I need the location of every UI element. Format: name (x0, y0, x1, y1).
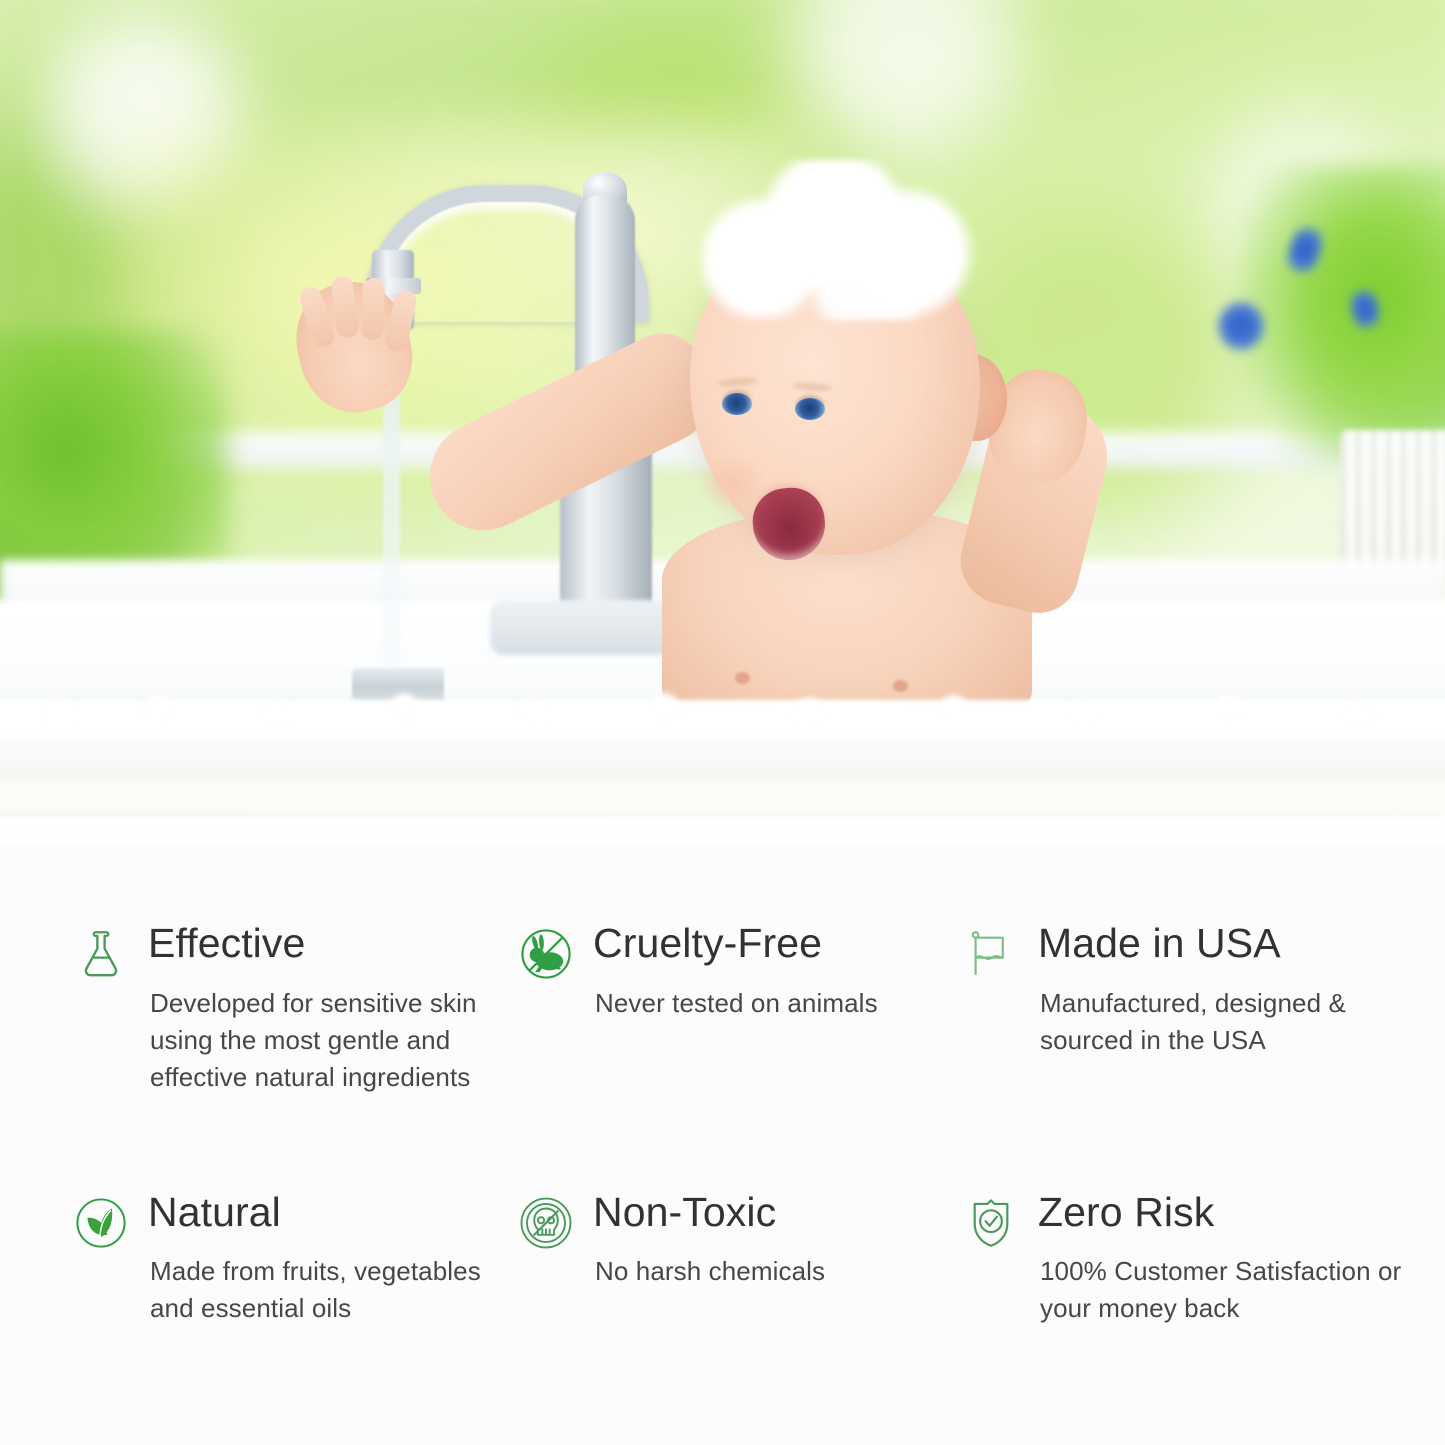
feature-title: Natural (148, 1192, 517, 1234)
flask-icon (72, 925, 130, 983)
baby-eye (722, 393, 752, 415)
feature-text: Zero Risk 100% Customer Satisfaction or … (1038, 1192, 1407, 1328)
feature-zero-risk: Zero Risk 100% Customer Satisfaction or … (962, 1192, 1407, 1328)
feature-description: Developed for sensitive skin using the m… (150, 985, 517, 1096)
feature-made-in-usa: Made in USA Manufactured, designed & sou… (962, 923, 1407, 1059)
feature-grid: Effective Developed for sensitive skin u… (0, 845, 1445, 1445)
feature-text: Non-Toxic No harsh chemicals (593, 1192, 962, 1291)
feature-description: Made from fruits, vegetables and essenti… (150, 1253, 517, 1327)
baby-cheek (700, 455, 766, 511)
feature-description: No harsh chemicals (595, 1253, 962, 1290)
leaves-icon (72, 1194, 130, 1252)
grass-plant-right (1240, 165, 1445, 465)
baby-chest-detail (735, 672, 750, 684)
baby-finger (361, 278, 385, 341)
feature-non-toxic: Non-Toxic No harsh chemicals (517, 1192, 962, 1291)
feature-description: 100% Customer Satisfaction or your money… (1040, 1253, 1407, 1327)
feature-cruelty-free: Cruelty-Free Never tested on animals (517, 923, 962, 1022)
feature-title: Effective (148, 923, 517, 965)
feature-effective: Effective Developed for sensitive skin u… (72, 923, 517, 1096)
photo-fade-to-white (0, 735, 1445, 845)
feature-text: Natural Made from fruits, vegetables and… (148, 1192, 517, 1328)
feature-title: Zero Risk (1038, 1192, 1407, 1234)
blue-flower-icon (1218, 300, 1264, 352)
baby-eye (795, 398, 825, 420)
shield-check-icon (962, 1194, 1020, 1252)
feature-text: Made in USA Manufactured, designed & sou… (1038, 923, 1407, 1059)
feature-title: Made in USA (1038, 923, 1407, 965)
soap-suds-in-sink (0, 690, 1445, 730)
feature-text: Cruelty-Free Never tested on animals (593, 923, 962, 1022)
feature-text: Effective Developed for sensitive skin u… (148, 923, 517, 1096)
no-skull-icon (517, 1194, 575, 1252)
feature-description: Manufactured, designed & sourced in the … (1040, 985, 1407, 1059)
no-rabbit-icon (517, 925, 575, 983)
feature-natural: Natural Made from fruits, vegetables and… (72, 1192, 517, 1328)
feature-row-bottom: Natural Made from fruits, vegetables and… (72, 1192, 1385, 1328)
feature-description: Never tested on animals (595, 985, 962, 1022)
product-feature-page: Effective Developed for sensitive skin u… (0, 0, 1445, 1445)
feature-row-top: Effective Developed for sensitive skin u… (72, 923, 1385, 1096)
flag-icon (962, 925, 1020, 983)
woven-basket-pot (1340, 430, 1445, 575)
feature-title: Non-Toxic (593, 1192, 962, 1234)
hero-photo (0, 0, 1445, 845)
feature-title: Cruelty-Free (593, 923, 962, 965)
soap-suds-on-head (700, 160, 980, 320)
